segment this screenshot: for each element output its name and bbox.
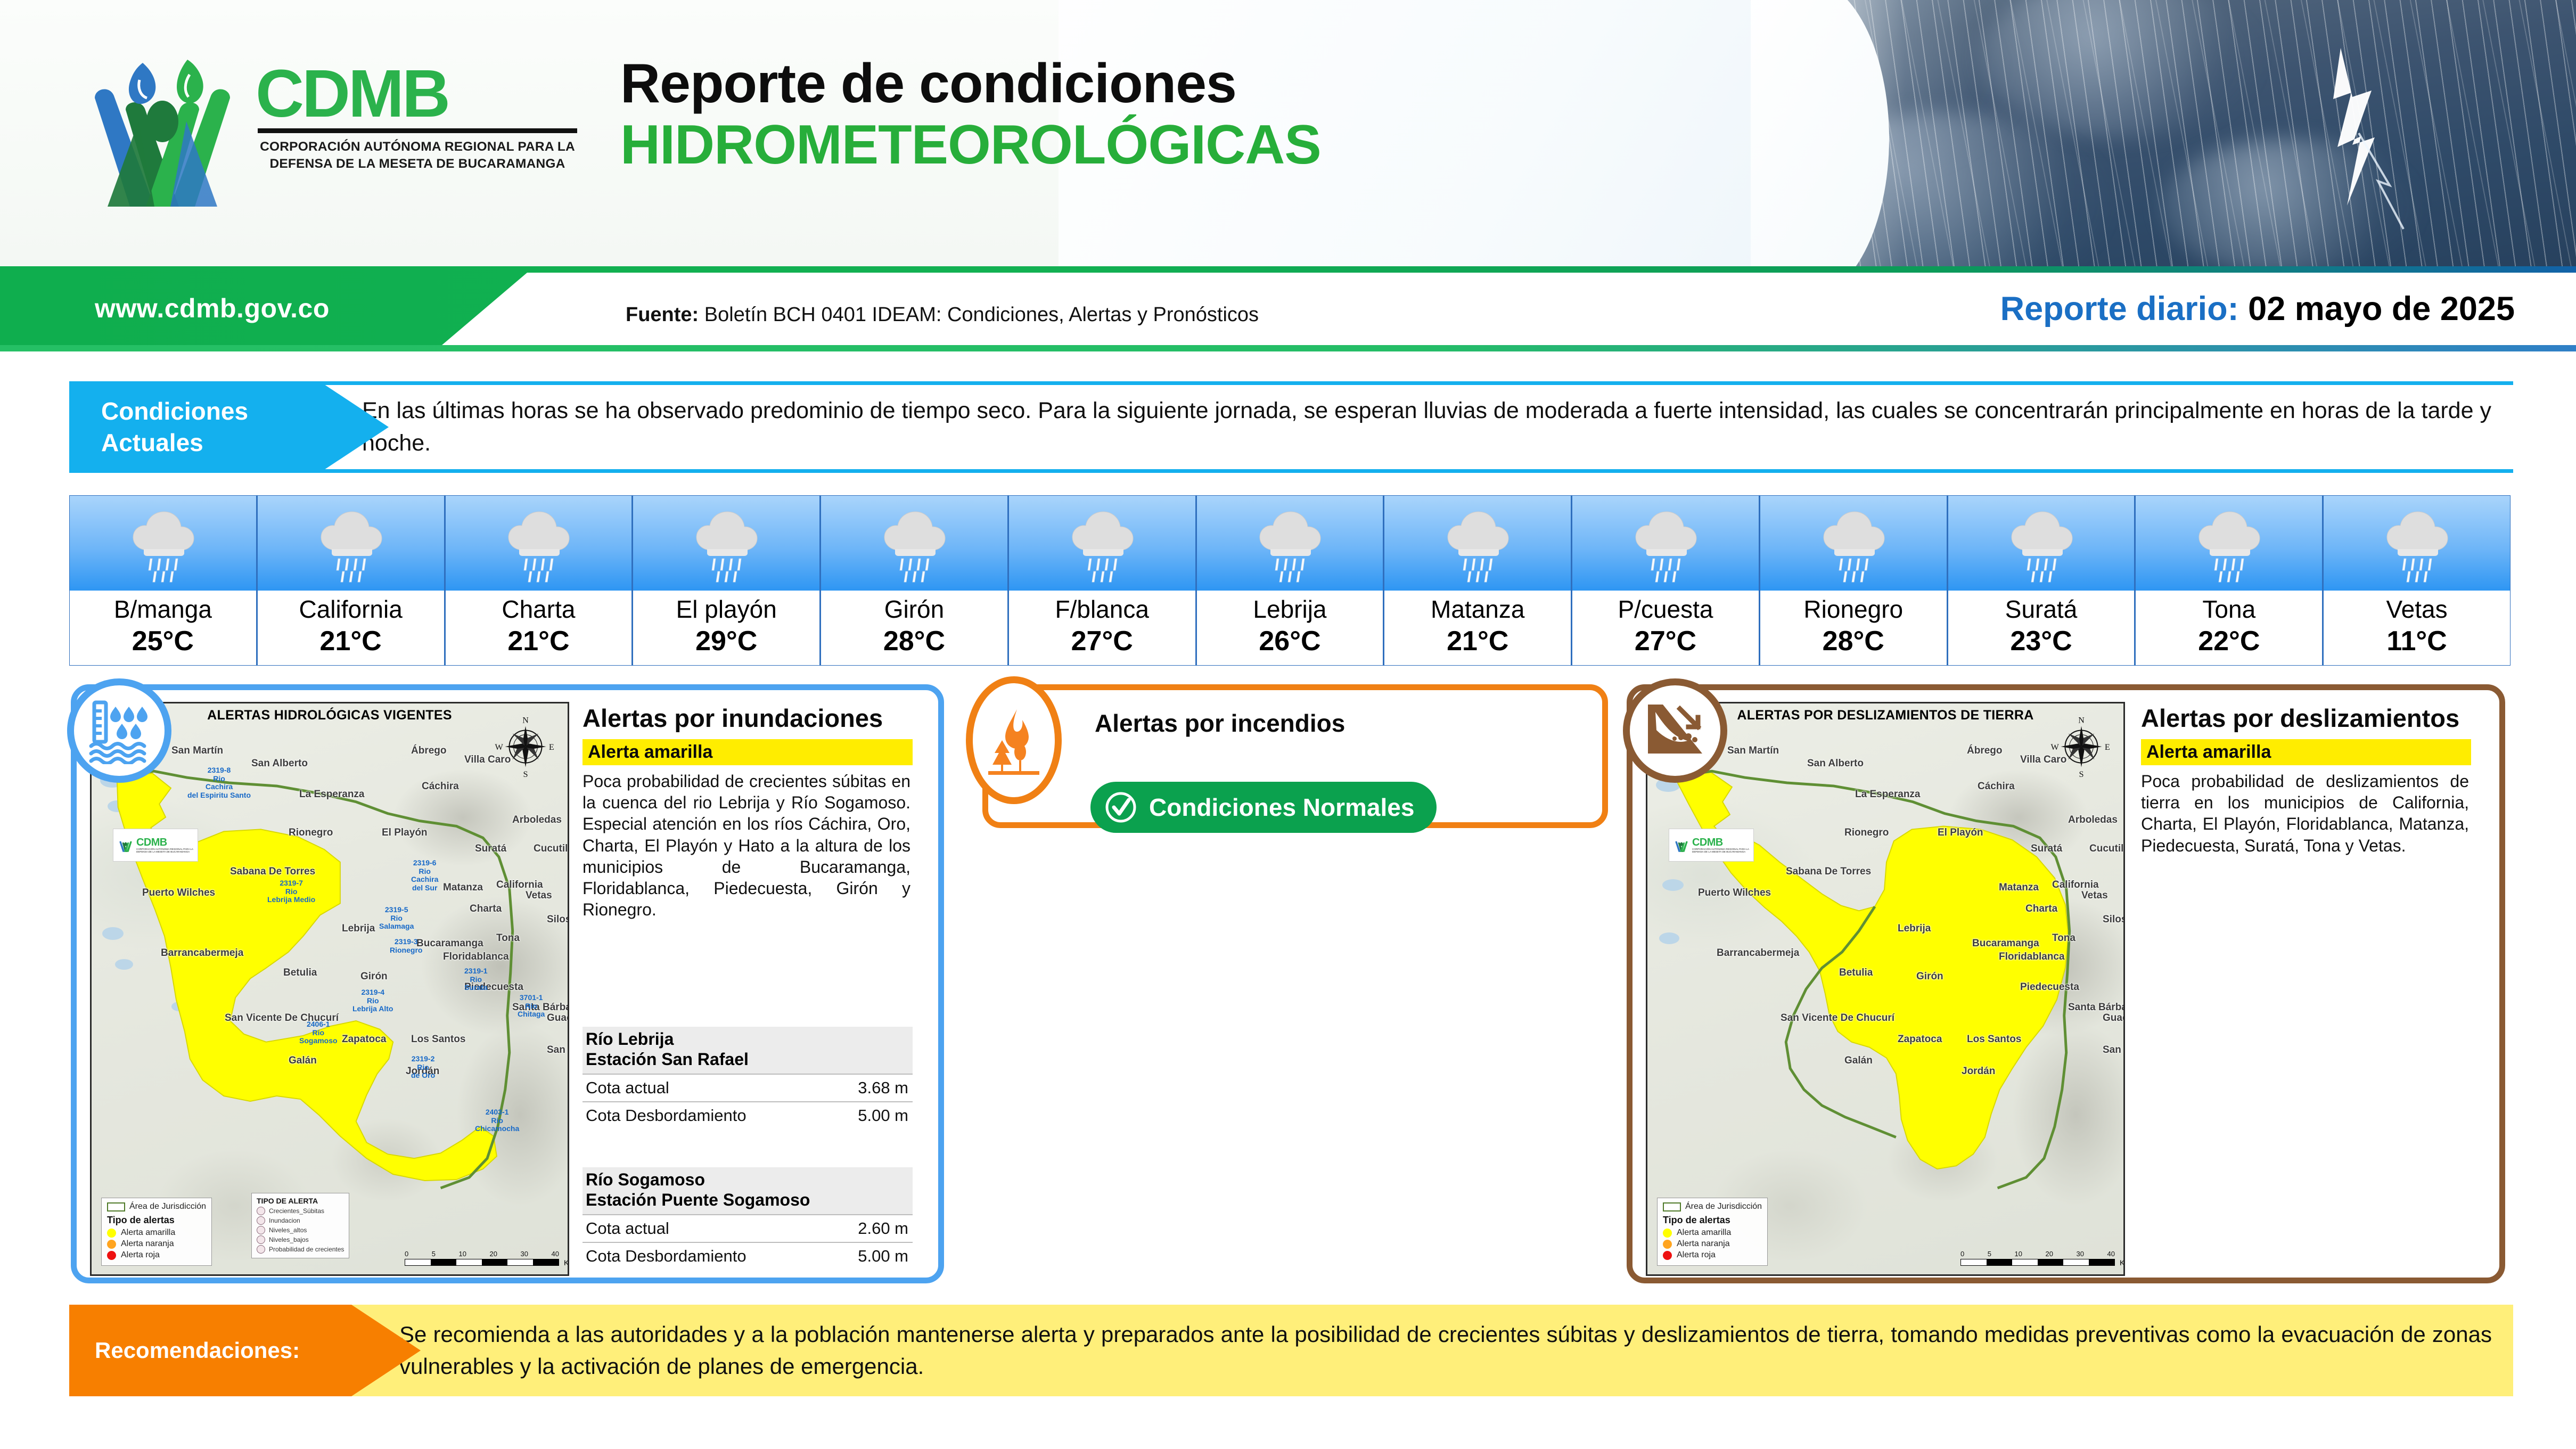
- legend-item-label: Probabilidad de crecientes: [269, 1246, 344, 1253]
- legend-item: Alerta roja: [107, 1250, 206, 1260]
- recommendations-section: Se recomienda a las autoridades y a la p…: [69, 1305, 2513, 1396]
- weather-cell: El playón 29°C: [633, 496, 821, 665]
- svg-text:S: S: [523, 769, 528, 779]
- weather-city: Charta: [502, 597, 575, 621]
- weather-temp: 21°C: [320, 625, 382, 658]
- map-place-label: Ábrego: [411, 745, 447, 757]
- map-place-label: Girón: [1916, 971, 1943, 983]
- current-conditions-body: En las últimas horas se ha observado pre…: [319, 381, 2513, 473]
- row-label: Cota Desbordamiento: [586, 1106, 746, 1125]
- svg-text:E: E: [549, 742, 554, 752]
- map-place-label: Ábrego: [1967, 745, 2003, 757]
- map-river-label: 2319-2Riode Oro: [411, 1055, 435, 1080]
- map-logo-text: CDMB: [1692, 837, 1749, 848]
- weather-city: Matanza: [1431, 597, 1524, 621]
- landslide-alert-panel: ALERTAS POR DESLIZAMIENTOS DE TIERRA CDM…: [1627, 684, 2505, 1283]
- map-place-label: Arboledas: [2068, 814, 2118, 826]
- legend-jurisdiction-label: Área de Jurisdicción: [129, 1202, 206, 1211]
- recommendations-text: Se recomienda a las autoridades y a la p…: [351, 1319, 2513, 1382]
- scale-tick: 40: [552, 1250, 559, 1258]
- map-place-label: San Martín: [171, 745, 223, 757]
- legend-symbol-icon: [257, 1245, 265, 1254]
- scale-tick: 0: [1960, 1250, 1964, 1258]
- map-place-label: Zapatoca: [342, 1034, 386, 1045]
- map-place-label: Suratá: [2031, 843, 2062, 855]
- weather-city: California: [299, 597, 402, 621]
- report-date-label: Reporte diario:: [2000, 290, 2239, 328]
- fire-status-label: Condiciones Normales: [1149, 793, 1414, 822]
- legend-jurisdiction-label: Área de Jurisdicción: [1685, 1202, 1762, 1211]
- scale-tick: 30: [2077, 1250, 2084, 1258]
- legend-item: Alerta roja: [1663, 1250, 1762, 1260]
- legend-item-label: Niveles_altos: [269, 1226, 307, 1234]
- flood-map-scalebar: 0510203040 Km: [405, 1250, 559, 1266]
- weather-temp: 27°C: [1635, 625, 1696, 658]
- report-date-value: 02 mayo de 2025: [2248, 290, 2515, 328]
- legend-title: Tipo de alertas: [1663, 1215, 1762, 1226]
- landslide-description: Poca probabilidad de deslizamientos de t…: [2141, 771, 2471, 856]
- rain-cloud-icon: [1254, 503, 1325, 583]
- title-line-secondary: HIDROMETEOROLÓGICAS: [620, 114, 1321, 176]
- map-place-label: Barrancabermeja: [161, 947, 243, 959]
- header-curve-secondary: [1751, 0, 1889, 266]
- row-value: 3.68 m: [858, 1078, 908, 1098]
- map-place-label: La Esperanza: [1855, 789, 1921, 800]
- weather-label-area: Girón 28°C: [821, 591, 1007, 665]
- fire-status-badge: Condiciones Normales: [1090, 782, 1437, 833]
- recommendations-tab: Recomendaciones:: [69, 1305, 421, 1396]
- map-cdmb-logo: CDMB CORPORACIÓN AUTÓNOMA REGIONAL PARA …: [113, 829, 198, 862]
- map-place-label: Puerto Wilches: [142, 887, 215, 899]
- legend-item: Inundacion: [257, 1216, 344, 1225]
- map-place-label: Puerto Wilches: [1698, 887, 1771, 899]
- weather-label-area: Suratá 23°C: [1948, 591, 2135, 665]
- rain-cloud-icon: [2006, 503, 2077, 583]
- weather-temp: 21°C: [507, 625, 569, 658]
- legend-item-label: Inundacion: [269, 1217, 300, 1224]
- weather-temp: 23°C: [2010, 625, 2072, 658]
- map-place-label: Cáchira: [1978, 781, 2015, 792]
- weather-label-area: El playón 29°C: [633, 591, 819, 665]
- rain-cloud-icon: [316, 503, 386, 583]
- map-place-label: Floridablanca: [1999, 951, 2065, 963]
- map-place-label: San Vicente De Chucurí: [1781, 1012, 1894, 1024]
- flood-map-legend: Área de Jurisdicción Tipo de alertas Ale…: [101, 1198, 212, 1266]
- legend-color-dot: [107, 1240, 116, 1249]
- legend-item: Niveles_altos: [257, 1226, 344, 1234]
- map-place-label: Zapatoca: [1898, 1034, 1942, 1045]
- flood-scale-unit: Km: [564, 1258, 569, 1267]
- compass-rose-icon: N S E W: [2049, 714, 2114, 779]
- svg-text:E: E: [2105, 742, 2110, 752]
- scale-tick: 10: [2015, 1250, 2022, 1258]
- landslide-slope-icon: [1623, 678, 1727, 783]
- landslide-alert-level: Alerta amarilla: [2141, 739, 2471, 765]
- map-place-label: California: [496, 879, 543, 891]
- map-place-label: Piedecuesta: [2020, 981, 2079, 993]
- legend-item: Alerta naranja: [1663, 1239, 1762, 1249]
- map-place-label: Rionegro: [289, 827, 333, 839]
- svg-text:S: S: [2079, 769, 2083, 779]
- river-station-sogamoso: Río Sogamoso Estación Puente Sogamoso Co…: [583, 1167, 913, 1270]
- station-river-name: Río Lebrija: [586, 1029, 909, 1049]
- legend-symbol-icon: [257, 1235, 265, 1244]
- legend-symbol-icon: [257, 1216, 265, 1225]
- source-note: Fuente: Boletín BCH 0401 IDEAM: Condicio…: [626, 304, 1259, 326]
- flood-alert-panel: ALERTAS HIDROLÓGICAS VIGENTES CDMB CORPO…: [71, 684, 944, 1283]
- legend-symbol-icon: [257, 1226, 265, 1234]
- map-place-label: Barrancabermeja: [1717, 947, 1799, 959]
- flood-alert-text: Alertas por inundaciones Alerta amarilla…: [583, 704, 913, 921]
- map-place-label: Jordán: [1962, 1066, 1995, 1077]
- weather-cell: Rionegro 28°C: [1760, 496, 1948, 665]
- fire-forest-icon: [966, 676, 1062, 804]
- map-river-label: 2319-3Rionegro: [390, 938, 422, 954]
- map-place-label: Cucutilla: [534, 843, 569, 855]
- legend-item-label: Alerta amarilla: [1677, 1228, 1731, 1238]
- legend-item: Alerta amarilla: [1663, 1228, 1762, 1238]
- weather-city: F/blanca: [1055, 597, 1148, 621]
- legend-title: Tipo de alertas: [107, 1215, 206, 1226]
- row-value: 5.00 m: [858, 1247, 908, 1266]
- source-label: Fuente:: [626, 304, 699, 326]
- info-bar-underline: [0, 345, 2576, 351]
- flood-description: Poca probabilidad de crecientes súbitas …: [583, 771, 913, 921]
- weather-strip: B/manga 25°C California 21°C Charta 21°C: [69, 495, 2511, 666]
- weather-city: Tona: [2202, 597, 2255, 621]
- map-place-label: La Esperanza: [299, 789, 365, 800]
- weather-temp: 29°C: [695, 625, 757, 658]
- table-row: Cota actual 3.68 m: [583, 1074, 913, 1101]
- map-river-label: 3701-1RioChitaga: [518, 994, 545, 1019]
- map-place-label: Los Santos: [411, 1034, 465, 1045]
- map-place-label: Charta: [2025, 903, 2057, 915]
- weather-temp: 28°C: [883, 625, 945, 658]
- flood-map-alert-type-legend: TIPO DE ALERTA Crecientes_Súbitas Inunda…: [251, 1193, 349, 1258]
- row-label: Cota actual: [586, 1219, 669, 1238]
- map-place-label: Suratá: [475, 843, 506, 855]
- river-station-lebrija: Río Lebrija Estación San Rafael Cota act…: [583, 1027, 913, 1129]
- scale-tick: 5: [432, 1250, 436, 1258]
- map-river-label: 2406-1RioSogamoso: [299, 1020, 338, 1045]
- table-row: Cota Desbordamiento 5.00 m: [583, 1101, 913, 1129]
- weather-city: Lebrija: [1253, 597, 1326, 621]
- map-place-label: Tona: [2052, 932, 2075, 944]
- map-river-label: 2319-6RioCachiradel Sur: [411, 859, 438, 893]
- map-place-label: San Andrés: [547, 1044, 569, 1056]
- map-place-label: San Alberto: [251, 758, 308, 769]
- map-place-label: Los Santos: [1967, 1034, 2021, 1045]
- current-conditions-text: En las últimas horas se ha observado pre…: [319, 395, 2513, 460]
- svg-text:W: W: [495, 742, 504, 752]
- weather-icon-area: [1572, 496, 1759, 591]
- weather-icon-area: [1760, 496, 1947, 591]
- weather-label-area: Lebrija 26°C: [1197, 591, 1383, 665]
- scale-tick: 30: [521, 1250, 528, 1258]
- weather-cell: Girón 28°C: [821, 496, 1009, 665]
- legend2-title: TIPO DE ALERTA: [257, 1197, 344, 1205]
- rain-cloud-icon: [691, 503, 761, 583]
- map-place-label: Arboledas: [512, 814, 562, 826]
- scale-tick: 10: [459, 1250, 466, 1258]
- legend-color-dot: [1663, 1240, 1672, 1249]
- flood-alert-level: Alerta amarilla: [583, 739, 913, 765]
- weather-city: P/cuesta: [1618, 597, 1713, 621]
- lightning-bolt-icon: [2310, 48, 2470, 261]
- scale-tick: 20: [490, 1250, 497, 1258]
- legend-item: Alerta naranja: [107, 1239, 206, 1249]
- legend-color-dot: [107, 1251, 116, 1260]
- rain-cloud-icon: [2382, 503, 2452, 583]
- map-place-label: Betulia: [283, 967, 317, 979]
- weather-icon-area: [821, 496, 1007, 591]
- map-place-label: Charta: [470, 903, 502, 915]
- rain-cloud-icon: [1630, 503, 1701, 583]
- weather-temp: 28°C: [1823, 625, 1884, 658]
- map-place-label: Galán: [289, 1055, 317, 1067]
- svg-text:W: W: [2051, 742, 2060, 752]
- weather-temp: 21°C: [1447, 625, 1508, 658]
- map-place-label: El Playón: [1938, 827, 1983, 839]
- scale-tick: 5: [1988, 1250, 1991, 1258]
- map-place-label: Vetas: [526, 890, 552, 902]
- weather-icon-area: [1197, 496, 1383, 591]
- legend-item-label: Alerta naranja: [1677, 1239, 1730, 1249]
- weather-city: Vetas: [2386, 597, 2448, 621]
- map-place-label: El Playón: [382, 827, 428, 839]
- weather-icon-area: [1384, 496, 1571, 591]
- legend-color-dot: [1663, 1251, 1672, 1260]
- weather-label-area: Charta 21°C: [446, 591, 632, 665]
- weather-city: B/manga: [114, 597, 212, 621]
- landslide-scale-unit: Km: [2120, 1258, 2125, 1267]
- station-name: Estación San Rafael: [586, 1049, 909, 1069]
- map-place-label: Bucaramanga: [416, 938, 483, 949]
- weather-city: Girón: [884, 597, 944, 621]
- weather-label-area: Rionegro 28°C: [1760, 591, 1947, 665]
- map-place-label: Cáchira: [422, 781, 459, 792]
- map-place-label: San Martín: [1727, 745, 1779, 757]
- weather-cell: F/blanca 27°C: [1009, 496, 1197, 665]
- weather-temp: 22°C: [2198, 625, 2260, 658]
- weather-temp: 27°C: [1071, 625, 1133, 658]
- map-place-label: Vetas: [2081, 890, 2108, 902]
- weather-icon-area: [2324, 496, 2510, 591]
- table-row: Cota actual 2.60 m: [583, 1214, 913, 1242]
- landslide-map-scalebar: 0510203040 Km: [1960, 1250, 2115, 1266]
- rain-cloud-icon: [503, 503, 573, 583]
- water-level-gauge-icon: [67, 678, 171, 783]
- rain-cloud-icon: [879, 503, 949, 583]
- station-name: Estación Puente Sogamoso: [586, 1190, 909, 1210]
- legend-item: Alerta amarilla: [107, 1228, 206, 1238]
- scale-tick: 40: [2107, 1250, 2115, 1258]
- row-value: 2.60 m: [858, 1219, 908, 1238]
- legend-item: Probabilidad de crecientes: [257, 1245, 344, 1254]
- weather-city: El playón: [676, 597, 777, 621]
- map-river-label: 2319-5RioSalamaga: [379, 906, 414, 931]
- weather-label-area: F/blanca 27°C: [1009, 591, 1195, 665]
- legend-color-dot: [107, 1229, 116, 1238]
- map-place-label: Tona: [496, 932, 520, 944]
- rain-cloud-icon: [2194, 503, 2264, 583]
- weather-label-area: B/manga 25°C: [70, 591, 256, 665]
- weather-city: Suratá: [2005, 597, 2078, 621]
- hydrological-alert-map[interactable]: ALERTAS HIDROLÓGICAS VIGENTES CDMB CORPO…: [90, 702, 569, 1276]
- landslide-heading: Alertas por deslizamientos: [2141, 704, 2471, 733]
- weather-cell: B/manga 25°C: [70, 496, 258, 665]
- weather-label-area: Tona 22°C: [2136, 591, 2322, 665]
- legend-item-label: Crecientes_Súbitas: [269, 1207, 324, 1215]
- map-place-label: Cucutilla: [2089, 843, 2125, 855]
- rain-cloud-icon: [1818, 503, 1889, 583]
- rain-cloud-icon: [1067, 503, 1137, 583]
- rain-cloud-icon: [1442, 503, 1513, 583]
- current-conditions-section: En las últimas horas se ha observado pre…: [69, 381, 2513, 473]
- page-header: CDMB CORPORACIÓN AUTÓNOMA REGIONAL PARA …: [0, 0, 2576, 266]
- logo-acronym: CDMB: [256, 62, 591, 126]
- map-place-label: Guaca: [547, 1012, 569, 1024]
- legend-item: Crecientes_Súbitas: [257, 1207, 344, 1215]
- weather-label-area: California 21°C: [258, 591, 444, 665]
- map-river-label: 2319-1RioSurata: [464, 967, 488, 992]
- weather-cell: Vetas 11°C: [2324, 496, 2510, 665]
- website-url[interactable]: www.cdmb.gov.co: [95, 293, 330, 324]
- scale-tick: 0: [405, 1250, 408, 1258]
- table-row: Cota Desbordamiento 5.00 m: [583, 1242, 913, 1270]
- fire-heading: Alertas por incendios: [1095, 709, 1345, 738]
- logo-subtitle-line2: DEFENSA DE LA MESETA DE BUCARAMANGA: [258, 155, 577, 173]
- map-place-label: Silos: [2103, 914, 2125, 926]
- landslide-map-legend: Área de Jurisdicción Tipo de alertas Ale…: [1657, 1198, 1768, 1266]
- map-place-label: Lebrija: [1898, 923, 1931, 935]
- fire-alert-panel: Alertas por incendios Condiciones Normal…: [982, 684, 1608, 828]
- weather-icon-area: [1009, 496, 1195, 591]
- weather-cell: Tona 22°C: [2136, 496, 2324, 665]
- weather-icon-area: [70, 496, 256, 591]
- row-label: Cota Desbordamiento: [586, 1247, 746, 1266]
- map-place-label: Matanza: [443, 882, 483, 894]
- legend-color-dot: [1663, 1229, 1672, 1238]
- weather-label-area: P/cuesta 27°C: [1572, 591, 1759, 665]
- weather-icon-area: [446, 496, 632, 591]
- weather-temp: 11°C: [2386, 625, 2447, 658]
- legend-item-label: Niveles_bajos: [269, 1236, 309, 1243]
- map-place-label: San Andrés: [2103, 1044, 2125, 1056]
- cdmb-logo-mark: [75, 47, 250, 217]
- row-label: Cota actual: [586, 1078, 669, 1098]
- weather-label-area: Matanza 21°C: [1384, 591, 1571, 665]
- legend-item-label: Alerta amarilla: [121, 1228, 175, 1238]
- weather-cell: Suratá 23°C: [1948, 496, 2136, 665]
- weather-cell: Charta 21°C: [446, 496, 634, 665]
- weather-icon-area: [2136, 496, 2322, 591]
- map-river-label: 2319-8RioCachiradel Espiritu Santo: [187, 766, 251, 800]
- source-text: Boletín BCH 0401 IDEAM: Condiciones, Ale…: [704, 304, 1259, 326]
- title-line-primary: Reporte de condiciones: [620, 53, 1321, 114]
- logo-subtitle-line1: CORPORACIÓN AUTÓNOMA REGIONAL PARA LA: [258, 138, 577, 155]
- weather-label-area: Vetas 11°C: [2324, 591, 2510, 665]
- map-place-label: Silos: [547, 914, 569, 926]
- map-river-label: 2403-1RioChicamocha: [475, 1108, 519, 1133]
- map-place-label: Betulia: [1839, 967, 1873, 979]
- map-place-label: Bucaramanga: [1972, 938, 2039, 949]
- map-place-label: Matanza: [1999, 882, 2039, 894]
- check-circle-icon: [1104, 791, 1137, 824]
- weather-cell: California 21°C: [258, 496, 446, 665]
- page-title: Reporte de condiciones HIDROMETEOROLÓGIC…: [620, 53, 1321, 176]
- row-value: 5.00 m: [858, 1106, 908, 1125]
- weather-icon-area: [258, 496, 444, 591]
- current-conditions-tab-line2: Actuales: [101, 427, 389, 459]
- map-place-label: Galán: [1844, 1055, 1873, 1067]
- map-place-label: San Alberto: [1807, 758, 1864, 769]
- scale-tick: 20: [2046, 1250, 2053, 1258]
- weather-cell: Matanza 21°C: [1384, 496, 1572, 665]
- map-river-label: 2319-4RioLebrija Alto: [352, 988, 393, 1013]
- info-bar: www.cdmb.gov.co Fuente: Boletín BCH 0401…: [0, 266, 2576, 351]
- legend-item: Niveles_bajos: [257, 1235, 344, 1244]
- flood-heading: Alertas por inundaciones: [583, 704, 913, 733]
- weather-temp: 25°C: [132, 625, 194, 658]
- cdmb-logo: CDMB CORPORACIÓN AUTÓNOMA REGIONAL PARA …: [75, 47, 607, 223]
- map-place-label: Santa Bárbara: [2068, 1002, 2125, 1013]
- report-date-block: Reporte diario: 02 mayo de 2025: [2000, 290, 2515, 328]
- landslide-alert-text: Alertas por deslizamientos Alerta amaril…: [2141, 704, 2471, 856]
- map-logo-text: CDMB: [136, 837, 193, 848]
- map-place-label: California: [2052, 879, 2099, 891]
- weather-icon-area: [633, 496, 819, 591]
- legend-item-label: Alerta roja: [1677, 1250, 1716, 1260]
- current-conditions-tab-line1: Condiciones: [101, 396, 389, 427]
- rain-cloud-icon: [128, 503, 198, 583]
- map-place-label: Lebrija: [342, 923, 375, 935]
- landslide-alert-map[interactable]: ALERTAS POR DESLIZAMIENTOS DE TIERRA CDM…: [1646, 702, 2125, 1276]
- map-place-label: Guaca: [2103, 1012, 2125, 1024]
- station-river-name: Río Sogamoso: [586, 1169, 909, 1190]
- map-place-label: Floridablanca: [443, 951, 509, 963]
- map-place-label: Girón: [360, 971, 388, 983]
- map-place-label: Sabana De Torres: [1786, 866, 1871, 878]
- weather-icon-area: [1948, 496, 2135, 591]
- map-river-label: 2319-7RioLebrija Medio: [267, 879, 315, 904]
- legend-item-label: Alerta naranja: [121, 1239, 174, 1249]
- legend-item-label: Alerta roja: [121, 1250, 160, 1260]
- compass-rose-icon: N S E W: [493, 714, 558, 779]
- weather-cell: Lebrija 26°C: [1197, 496, 1385, 665]
- recommendations-body: Se recomienda a las autoridades y a la p…: [351, 1305, 2513, 1396]
- alert-panels-row: ALERTAS HIDROLÓGICAS VIGENTES CDMB CORPO…: [0, 684, 2576, 1286]
- weather-cell: P/cuesta 27°C: [1572, 496, 1760, 665]
- weather-temp: 26°C: [1259, 625, 1320, 658]
- map-place-label: Sabana De Torres: [230, 866, 315, 878]
- map-cdmb-logo: CDMB CORPORACIÓN AUTÓNOMA REGIONAL PARA …: [1669, 829, 1754, 862]
- map-place-label: Rionegro: [1844, 827, 1889, 839]
- legend-symbol-icon: [257, 1207, 265, 1215]
- weather-city: Rionegro: [1803, 597, 1903, 621]
- recommendations-label: Recomendaciones:: [95, 1338, 300, 1363]
